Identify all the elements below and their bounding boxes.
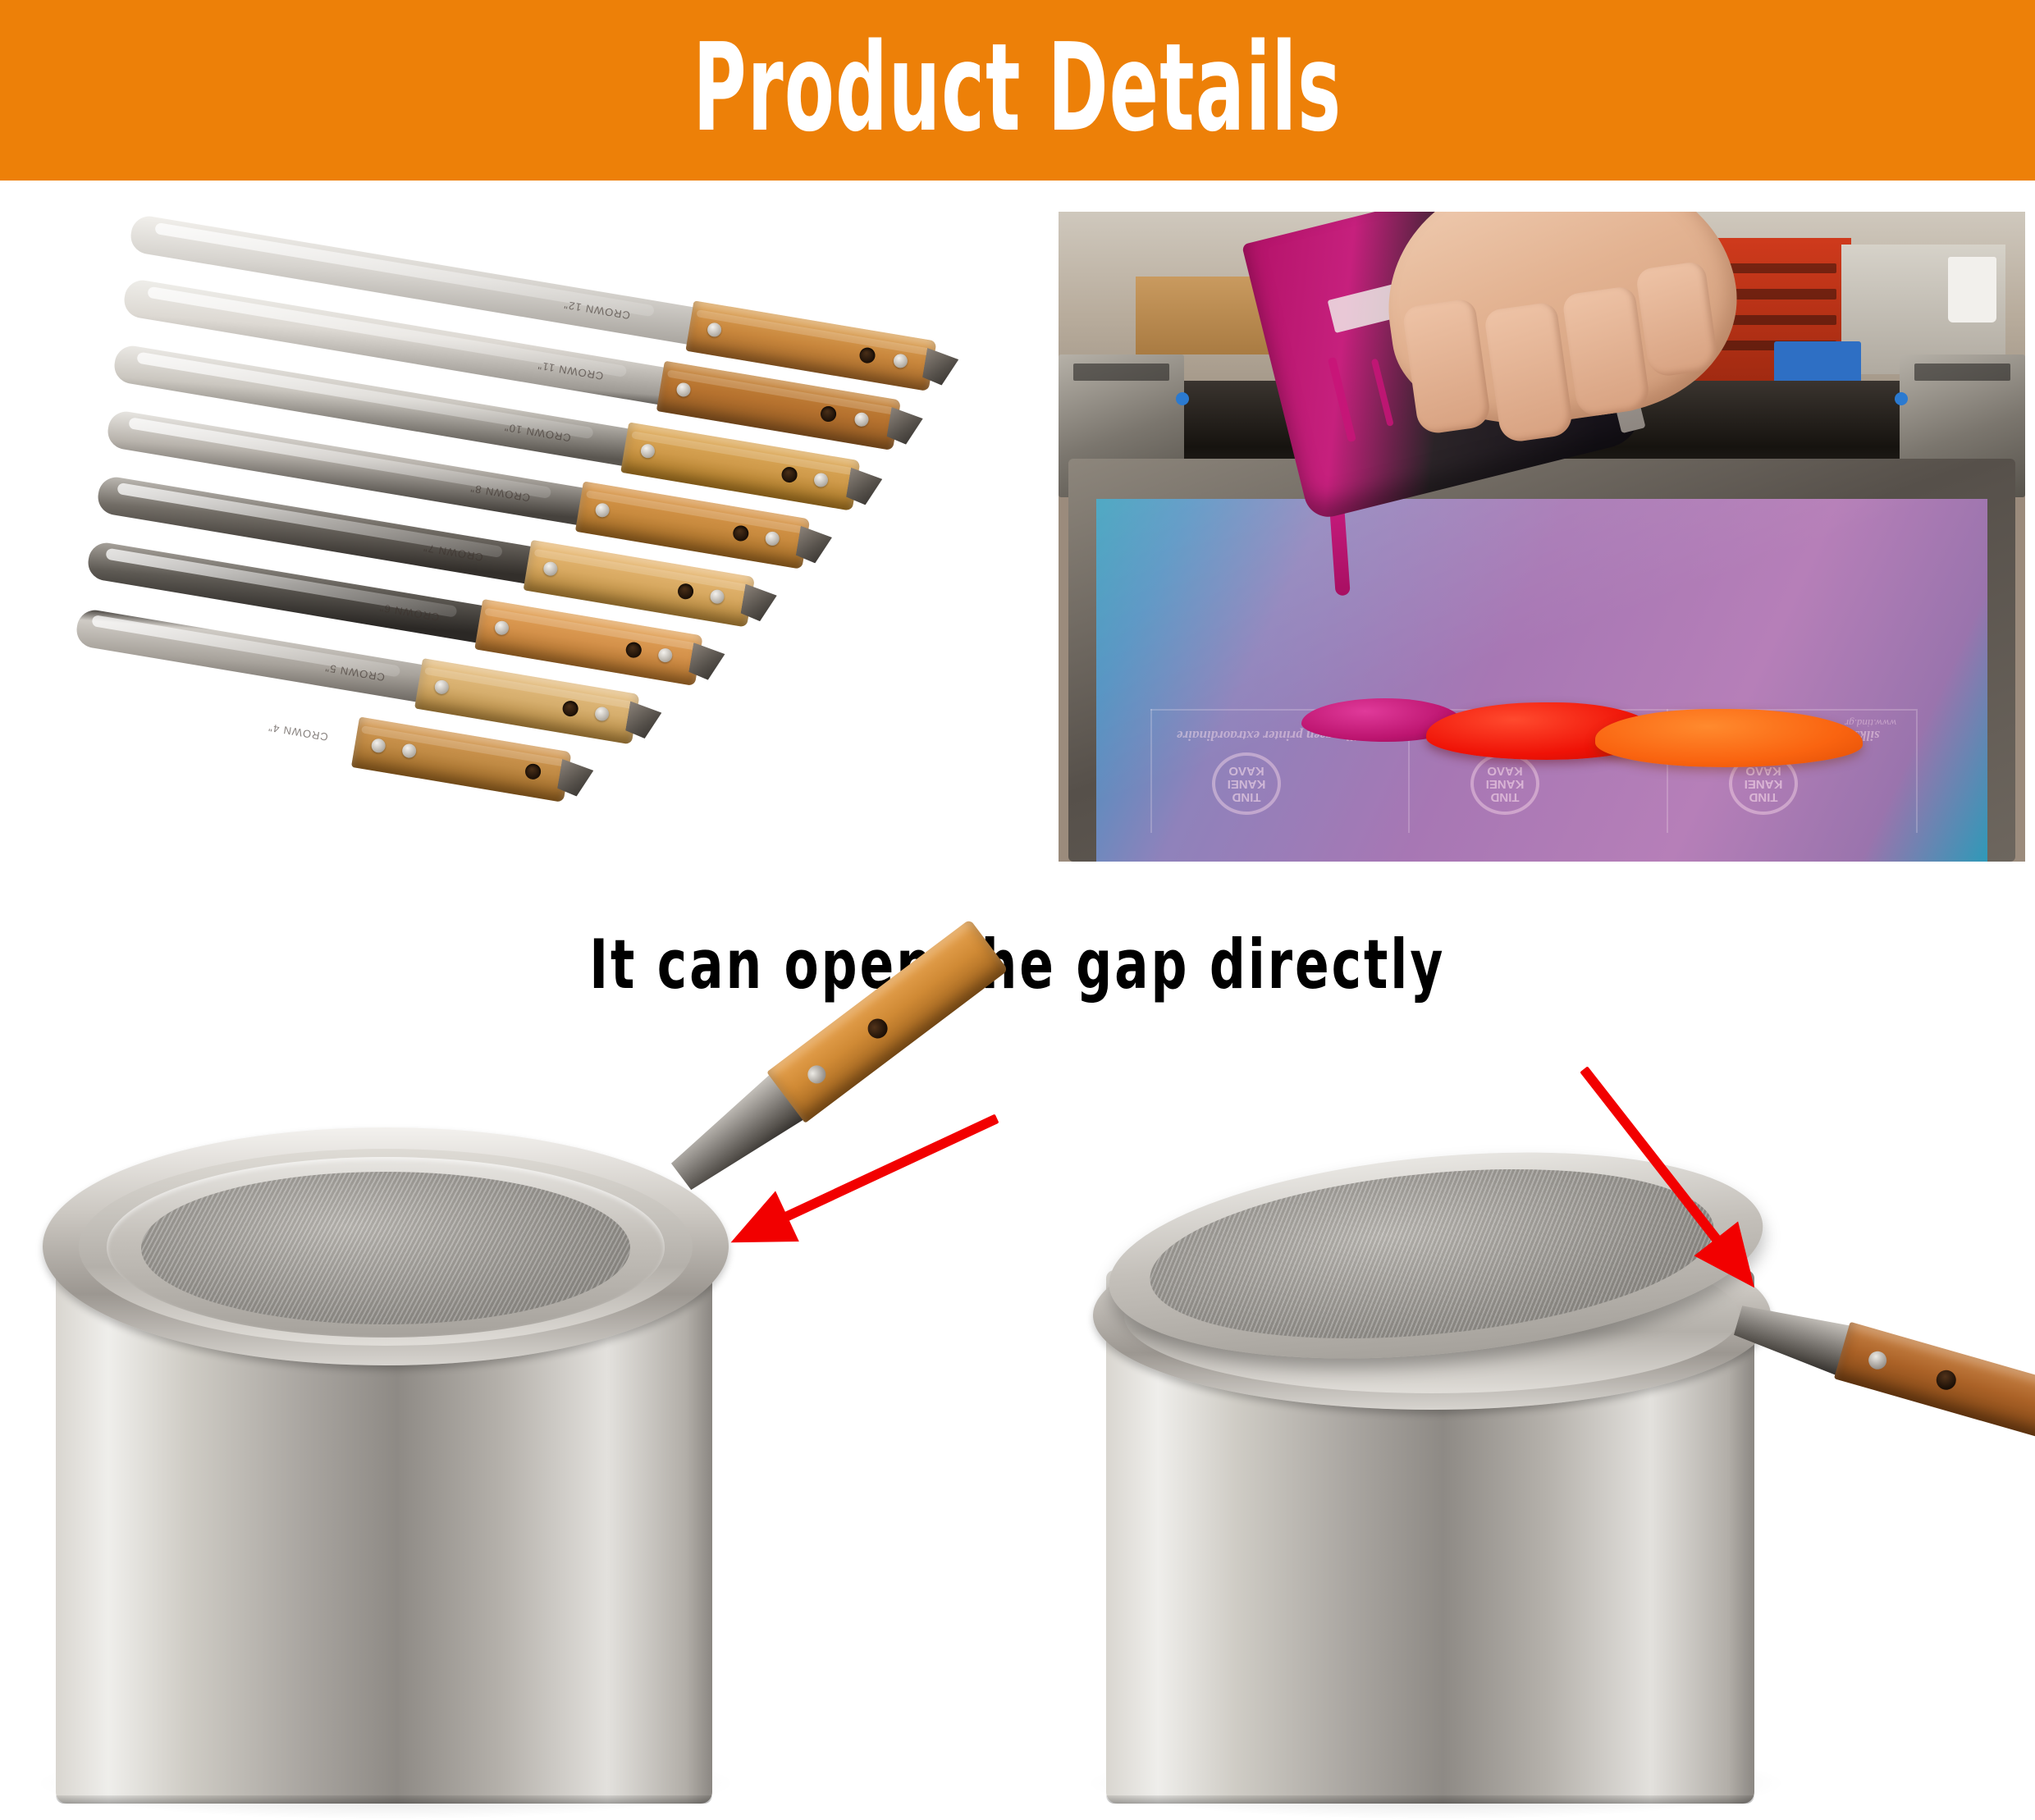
stamp-line: KANEI bbox=[1228, 778, 1266, 791]
handle-hole bbox=[1934, 1368, 1959, 1392]
handle-rivet bbox=[707, 322, 723, 338]
handle-hole bbox=[858, 346, 876, 364]
handle-rivet bbox=[764, 531, 780, 547]
handle-rivet bbox=[709, 588, 725, 605]
handle-rivet bbox=[640, 443, 656, 460]
arrow-shaft bbox=[772, 1114, 999, 1228]
knife-handle bbox=[351, 717, 572, 803]
handle-hole bbox=[820, 405, 838, 423]
knife-blade: CROWN 4" bbox=[62, 674, 367, 761]
stamp-line: KANEI bbox=[1486, 778, 1525, 791]
page-title: Product Details bbox=[693, 27, 1342, 149]
paint-can-right bbox=[1017, 1024, 2035, 1820]
handle-hole bbox=[677, 583, 695, 601]
handle-rivet bbox=[893, 353, 909, 369]
finger bbox=[1635, 261, 1718, 378]
stamp-line: KAΛO bbox=[1229, 765, 1264, 778]
handle-hole bbox=[780, 466, 798, 484]
knife-size-mark: CROWN 4" bbox=[267, 721, 328, 743]
handle-hole bbox=[624, 641, 643, 659]
stamp-line: KANEI bbox=[1745, 778, 1783, 791]
knife-size-mark: CROWN 8" bbox=[469, 482, 531, 504]
handle-rivet bbox=[804, 1062, 830, 1087]
screen-printing-ink-pour-photo: silkscreen printer extraordinaire www.ti… bbox=[1059, 212, 2025, 862]
tind-logo-stamp: TIND KANEI KAΛO bbox=[1470, 752, 1539, 815]
gap-caption-bar: It can open the gap directly bbox=[0, 905, 2035, 1024]
orange-ink-blob bbox=[1595, 709, 1863, 767]
handle-rivet bbox=[370, 738, 386, 754]
knife-size-mark: CROWN 11" bbox=[537, 359, 605, 382]
gap-caption-text: It can open the gap directly bbox=[589, 925, 1445, 1004]
handle-hole bbox=[524, 762, 542, 780]
knife-size-mark: CROWN 5" bbox=[324, 661, 386, 684]
registration-line bbox=[1150, 709, 1152, 832]
paint-can-left bbox=[0, 1024, 1017, 1820]
screen-frame: silkscreen printer extraordinaire www.ti… bbox=[1068, 459, 2015, 862]
palette-knife-set-photo: CROWN 12" CROWN 11" bbox=[49, 189, 1026, 894]
stamp-line: TIND bbox=[1749, 790, 1777, 803]
bucket-drip bbox=[1328, 357, 1356, 442]
palette-knife-in-can bbox=[1731, 1294, 2035, 1443]
screen-mesh: silkscreen printer extraordinaire www.ti… bbox=[1096, 499, 1987, 862]
knife-size-mark: CROWN 10" bbox=[503, 421, 572, 444]
handle-rivet bbox=[813, 472, 830, 488]
arrow-head bbox=[719, 1191, 799, 1268]
handle-rivet bbox=[542, 560, 559, 577]
handle-hole bbox=[561, 700, 579, 718]
finger bbox=[1562, 286, 1651, 418]
header-band: Product Details bbox=[0, 0, 2035, 181]
bucket-drip bbox=[1371, 359, 1394, 427]
knife-handle bbox=[1834, 1322, 2035, 1445]
stamp-line: TIND bbox=[1232, 790, 1261, 803]
mirrored-url: www.tind.gr bbox=[1845, 716, 1896, 729]
handle-rivet bbox=[494, 620, 510, 636]
handle-rivet bbox=[594, 706, 610, 722]
knife-size-mark: CROWN 7" bbox=[422, 542, 483, 564]
handle-rivet bbox=[594, 502, 610, 519]
handle-rivet bbox=[853, 411, 870, 428]
paint-cup bbox=[1948, 257, 1996, 322]
handle-rivet bbox=[1867, 1349, 1889, 1371]
stamp-line: KAΛO bbox=[1487, 765, 1522, 778]
stamp-line: TIND bbox=[1491, 790, 1520, 803]
handle-hole bbox=[732, 524, 750, 542]
knife-size-mark: CROWN 12" bbox=[562, 299, 631, 322]
handle-rivet bbox=[675, 382, 692, 398]
handle-rivet bbox=[657, 647, 674, 664]
handle-rivet bbox=[401, 743, 418, 759]
registration-line bbox=[1916, 709, 1918, 832]
product-details-page: Product Details CROWN 12" CROWN 11" bbox=[0, 0, 2035, 1820]
handle-rivet bbox=[434, 679, 450, 696]
can-lid-face bbox=[141, 1172, 630, 1324]
handle-hole bbox=[864, 1015, 892, 1043]
knife-size-mark: CROWN 6" bbox=[378, 601, 440, 624]
